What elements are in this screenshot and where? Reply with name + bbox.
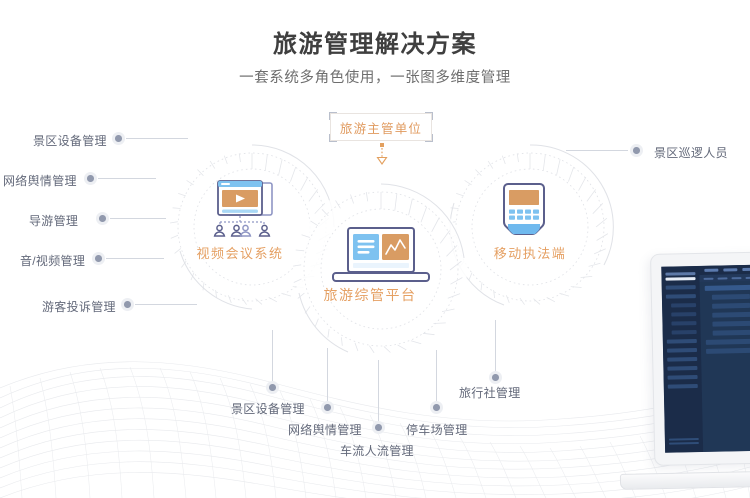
laptop-lid (650, 251, 750, 466)
laptop-icon (330, 226, 432, 288)
sidebar-nav-item (666, 294, 696, 299)
left-label-1: 网络舆情管理 (3, 172, 77, 189)
bottom-label-0: 景区设备管理 (231, 400, 305, 417)
authority-node[interactable]: 旅游主管单位 (330, 113, 432, 141)
authority-label: 旅游主管单位 (330, 113, 432, 141)
bottom-label-4: 旅行社管理 (459, 384, 521, 401)
bottom-connector-1 (327, 348, 328, 402)
bottom-connector-0 (272, 330, 273, 382)
page-subtitle: 一套系统多角色使用，一张图多维度管理 (0, 66, 750, 87)
dashboard-sidebar (661, 266, 703, 453)
bottom-connector-2 (378, 360, 379, 422)
dashboard-main-panel (699, 264, 750, 452)
bottom-label-3: 停车场管理 (406, 421, 468, 438)
dashboard-screen (661, 264, 750, 453)
right-label-0: 景区巡逻人员 (654, 144, 728, 161)
sidebar-nav-item (668, 384, 698, 389)
left-label-4: 游客投诉管理 (42, 298, 116, 315)
bottom-dot-4[interactable] (489, 371, 502, 384)
dashboard-row (713, 330, 750, 336)
sidebar-nav-item (667, 339, 697, 344)
dashboard-row (712, 294, 750, 300)
corner-bracket-bottom-left (329, 134, 337, 142)
laptop-base (620, 470, 750, 490)
left-dot-2[interactable] (96, 212, 109, 225)
left-connector-3 (106, 258, 164, 259)
page-title: 旅游管理解决方案 (0, 24, 750, 59)
dashboard-logo (665, 272, 695, 280)
left-label-0: 景区设备管理 (33, 132, 107, 149)
dashboard-row (706, 348, 750, 354)
left-dot-0[interactable] (112, 132, 125, 145)
dashboard-row (706, 339, 750, 345)
dashboard-breadcrumb (699, 273, 750, 282)
bottom-connector-4 (495, 320, 496, 372)
corner-bracket-top-left (329, 112, 337, 120)
left-dot-4[interactable] (121, 298, 134, 311)
sidebar-sub-item-selected (671, 312, 696, 317)
left-connector-4 (135, 304, 197, 305)
left-dot-1[interactable] (84, 172, 97, 185)
dashboard-row (705, 285, 750, 291)
down-arrow-icon (374, 143, 390, 167)
bottom-dot-2[interactable] (372, 421, 385, 434)
mobile-device-icon (496, 181, 552, 241)
right-connector-0 (566, 150, 628, 151)
bottom-dot-3[interactable] (430, 401, 443, 414)
left-label-2: 导游管理 (29, 212, 78, 229)
right-node-label: 移动执法端 (465, 243, 595, 262)
center-node-label: 旅游综管平台 (300, 285, 440, 305)
right-dot-0[interactable] (630, 144, 643, 157)
sidebar-nav-item (667, 348, 697, 353)
video-conference-icon (206, 180, 282, 238)
laptop-dashboard-mockup (650, 254, 750, 498)
corner-bracket-top-right (425, 112, 433, 120)
sidebar-footer (669, 438, 699, 447)
dashboard-row (712, 303, 750, 309)
sidebar-nav-item (666, 285, 696, 290)
sidebar-sub-item (671, 303, 696, 308)
bottom-dot-0[interactable] (266, 381, 279, 394)
left-connector-1 (98, 178, 156, 179)
sidebar-sub-item (671, 321, 696, 326)
left-label-3: 音/视频管理 (20, 252, 85, 269)
left-node-label: 视频会议系统 (175, 243, 305, 262)
left-dot-3[interactable] (92, 252, 105, 265)
bottom-label-1: 网络舆情管理 (288, 421, 362, 438)
bottom-label-2: 车流人流管理 (340, 442, 414, 459)
bottom-connector-3 (436, 350, 437, 402)
left-connector-0 (126, 138, 188, 139)
sidebar-nav-item (667, 357, 697, 362)
sidebar-sub-item (672, 330, 697, 335)
sidebar-nav-item (668, 375, 698, 380)
bottom-dot-1[interactable] (321, 401, 334, 414)
sidebar-nav-item (667, 366, 697, 371)
dashboard-row (712, 312, 750, 318)
left-connector-2 (110, 218, 166, 219)
infographic-canvas: 旅游管理解决方案 一套系统多角色使用，一张图多维度管理 (0, 0, 750, 498)
corner-bracket-bottom-right (425, 134, 433, 142)
dashboard-row (712, 321, 750, 327)
